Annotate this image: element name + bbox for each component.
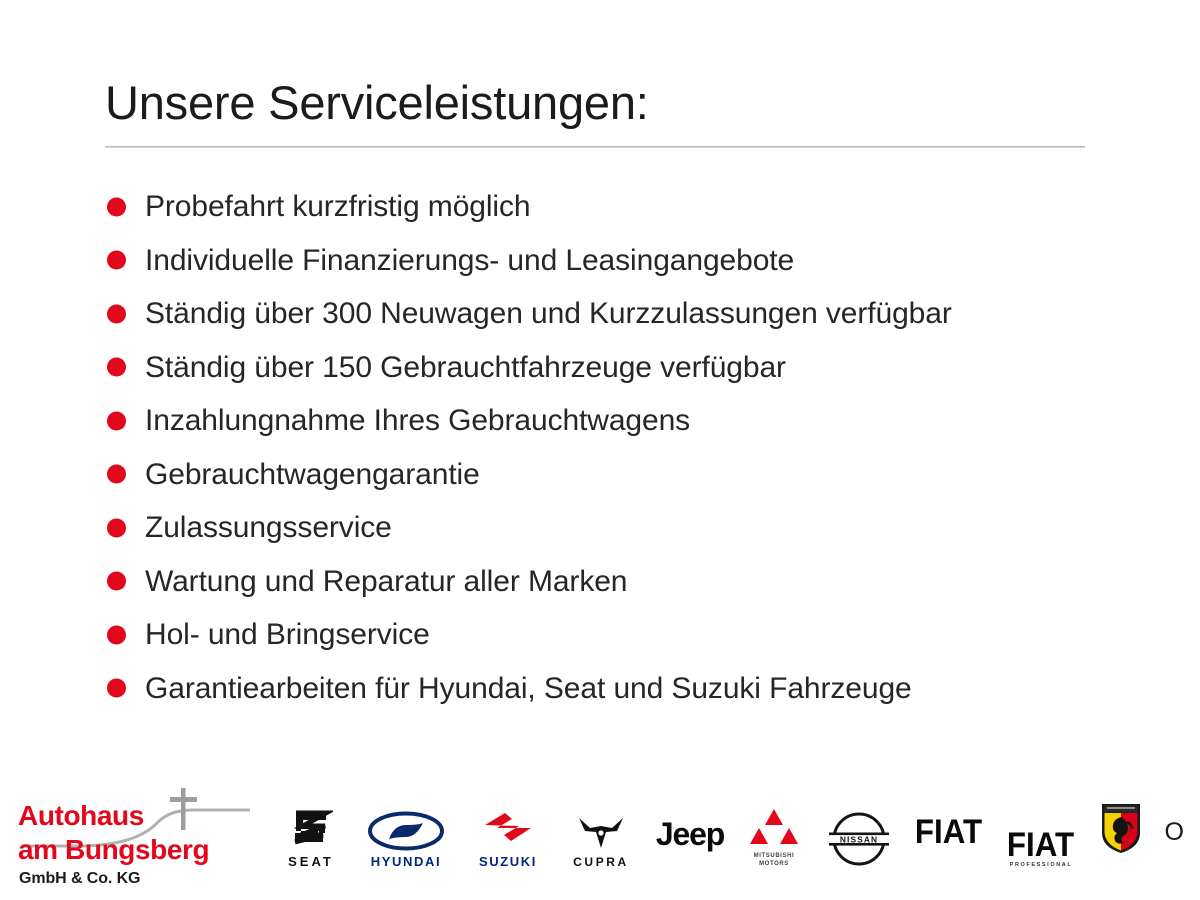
- brand-label: SEAT: [288, 855, 334, 868]
- list-item: Probefahrt kurzfristig möglich: [105, 180, 1165, 234]
- brand-logo-hyundai: HYUNDAI: [358, 788, 454, 868]
- list-item: Hol- und Bringservice: [105, 608, 1165, 662]
- slide-canvas: Unsere Serviceleistungen: Probefahrt kur…: [0, 0, 1200, 900]
- service-label: Zulassungsservice: [145, 511, 392, 544]
- brand-logo-fiat-professional: FIAT PROFESSIONAL: [998, 788, 1084, 868]
- abarth-scorpion-shield-icon: [1099, 800, 1143, 856]
- page-title: Unsere Serviceleistungen:: [105, 78, 1090, 129]
- title-block: Unsere Serviceleistungen:: [105, 78, 1090, 148]
- seat-s-icon: [289, 809, 333, 851]
- list-item: Inzahlungnahme Ihres Gebrauchtwagens: [105, 394, 1165, 448]
- cupra-tribal-icon: [576, 812, 626, 852]
- list-item: Wartung und Reparatur aller Marken: [105, 555, 1165, 609]
- brand-label: Jeep: [656, 818, 724, 850]
- brand-logo-cupra: CUPRA: [560, 788, 642, 868]
- brand-logo-strip: SEAT HYUNDAI: [272, 788, 1197, 883]
- bullet-dot-icon: [107, 251, 126, 270]
- service-label: Individuelle Finanzierungs- und Leasinga…: [145, 244, 794, 277]
- service-label: Ständig über 150 Gebrauchtfahrzeuge verf…: [145, 351, 786, 384]
- bullet-dot-icon: [107, 197, 126, 216]
- svg-text:NISSAN: NISSAN: [840, 835, 878, 845]
- list-item: Individuelle Finanzierungs- und Leasinga…: [105, 234, 1165, 288]
- dealer-logo: Autohaus am Bungsberg GmbH & Co. KG: [18, 788, 268, 893]
- brand-label: HYUNDAI: [371, 855, 441, 868]
- brand-logo-seat: SEAT: [272, 788, 350, 868]
- service-label: Hol- und Bringservice: [145, 618, 430, 651]
- brand-logo-fiat: FIAT: [906, 788, 992, 868]
- brand-logo-nissan: NISSAN: [820, 788, 898, 868]
- list-item: Zulassungsservice: [105, 501, 1165, 555]
- service-label: Wartung und Reparatur aller Marken: [145, 565, 627, 598]
- brand-logo-suzuki: SUZUKI: [462, 788, 554, 868]
- title-divider: [105, 146, 1085, 148]
- service-label: Probefahrt kurzfristig möglich: [145, 190, 530, 223]
- service-label: Inzahlungnahme Ihres Gebrauchtwagens: [145, 404, 690, 437]
- list-item: Gebrauchtwagengarantie: [105, 448, 1165, 502]
- brand-label: SUZUKI: [479, 855, 537, 868]
- dealer-logo-line2: am Bungsberg: [18, 836, 209, 864]
- hyundai-oval-h-icon: [367, 811, 445, 851]
- bullet-dot-icon: [107, 625, 126, 644]
- brand-logo-jeep: Jeep: [650, 788, 730, 868]
- mitsubishi-diamonds-icon: [748, 806, 800, 850]
- brand-label: CUPRA: [573, 856, 629, 868]
- dealer-logo-line1: Autohaus: [18, 802, 144, 830]
- list-item: Garantiearbeiten für Hyundai, Seat und S…: [105, 662, 1165, 716]
- dealer-logo-legal: GmbH & Co. KG: [19, 871, 140, 887]
- brand-label: MITSUBISHI MOTORS: [754, 853, 795, 868]
- footer: Autohaus am Bungsberg GmbH & Co. KG SEAT: [0, 780, 1200, 900]
- service-label: Ständig über 300 Neuwagen und Kurzzulass…: [145, 297, 952, 330]
- services-list: Probefahrt kurzfristig möglich Individue…: [105, 180, 1165, 715]
- list-item: Ständig über 300 Neuwagen und Kurzzulass…: [105, 287, 1165, 341]
- bullet-dot-icon: [107, 411, 126, 430]
- brand-label: ORA: [1165, 820, 1200, 845]
- bullet-dot-icon: [107, 304, 126, 323]
- service-label: Garantiearbeiten für Hyundai, Seat und S…: [145, 672, 912, 705]
- bullet-dot-icon: [107, 465, 126, 484]
- brand-logo-ora: ORA GWM: [1156, 788, 1200, 868]
- suzuki-s-icon: [481, 809, 535, 851]
- brand-logo-abarth: [1090, 788, 1152, 868]
- bullet-dot-icon: [107, 358, 126, 377]
- brand-label: FIAT: [1007, 828, 1074, 862]
- bullet-dot-icon: [107, 679, 126, 698]
- brand-logo-mitsubishi: MITSUBISHI MOTORS: [734, 788, 814, 868]
- list-item: Ständig über 150 Gebrauchtfahrzeuge verf…: [105, 341, 1165, 395]
- bullet-dot-icon: [107, 572, 126, 591]
- bullet-dot-icon: [107, 518, 126, 537]
- service-label: Gebrauchtwagengarantie: [145, 458, 480, 491]
- brand-label: FIAT: [915, 815, 982, 849]
- nissan-circle-icon: NISSAN: [828, 810, 890, 868]
